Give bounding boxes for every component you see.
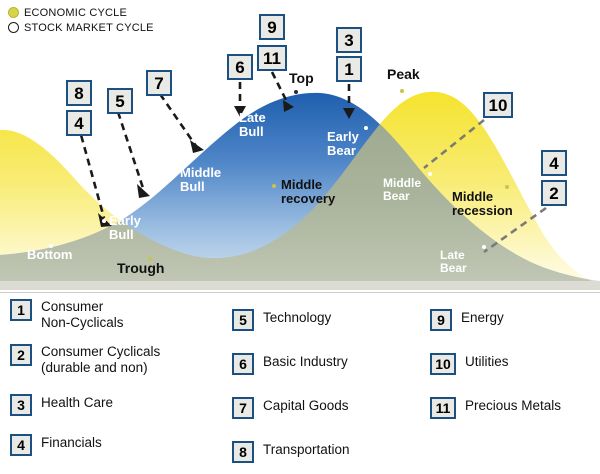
label-early-bull-line1: Early [109,214,141,228]
sector-item-8[interactable]: 8 Transportation [232,441,412,463]
sector-legend-column-1: 1 Consumer Non-Cyclicals 2 Consumer Cycl… [10,299,228,469]
sector-label-5: Technology [263,309,331,326]
sector-box-10: 10 [430,353,456,375]
label-early-bear-line2: Bear [327,144,359,158]
callout-box-8[interactable]: 8 [66,80,92,106]
callout-box-6[interactable]: 6 [227,54,253,80]
label-late-bear: Late Bear [440,249,467,274]
cycle-chart: 8 4 5 7 6 9 11 3 1 10 4 2 Bottom Trough … [0,0,600,290]
label-peak: Peak [387,67,420,82]
sector-label-4: Financials [41,434,102,451]
callout-box-5[interactable]: 5 [107,88,133,114]
sector-box-1: 1 [10,299,32,321]
callout-box-11[interactable]: 11 [257,45,287,71]
middle-bear-dot [428,172,432,176]
callout-box-7[interactable]: 7 [146,70,172,96]
early-bear-dot [364,126,368,130]
top-dot [294,90,298,94]
peak-dot [400,89,404,93]
callout-box-1[interactable]: 1 [336,56,362,82]
sector-label-10: Utilities [465,353,509,370]
sector-item-9[interactable]: 9 Energy [430,309,598,331]
sector-box-5: 5 [232,309,254,331]
sector-label-6: Basic Industry [263,353,348,370]
sector-item-10[interactable]: 10 Utilities [430,353,598,375]
label-middle-recession-line1: Middle [452,190,513,204]
sector-label-2-line2: (durable and non) [41,360,160,376]
label-early-bull: Early Bull [109,214,141,241]
sector-label-2: Consumer Cyclicals (durable and non) [41,344,160,376]
label-top: Top [289,71,314,86]
sector-item-4[interactable]: 4 Financials [10,434,228,456]
sector-box-8: 8 [232,441,254,463]
bottom-dot [49,244,53,248]
label-middle-recovery: Middle recovery [281,178,335,205]
trough-dot [148,257,152,261]
label-late-bull: Late Bull [239,111,266,138]
late-bull-dot [231,117,235,121]
label-middle-bear-line1: Middle [383,177,421,190]
label-late-bull-line2: Bull [239,125,266,139]
label-middle-bear-line2: Bear [383,190,421,203]
sector-label-11: Precious Metals [465,397,561,414]
label-middle-bull: Middle Bull [180,166,221,193]
baseline-band [0,281,600,290]
sector-legend-column-3: 9 Energy 10 Utilities 11 Precious Metals [430,309,598,432]
sector-box-11: 11 [430,397,456,419]
sector-box-2: 2 [10,344,32,366]
label-early-bear-line1: Early [327,130,359,144]
sector-box-7: 7 [232,397,254,419]
label-late-bull-line1: Late [239,111,266,125]
sector-item-5[interactable]: 5 Technology [232,309,412,331]
sector-item-3[interactable]: 3 Health Care [10,394,228,416]
callout-box-3[interactable]: 3 [336,27,362,53]
sector-box-9: 9 [430,309,452,331]
hollow-circle-icon [8,22,19,33]
sector-label-7: Capital Goods [263,397,349,414]
callout-box-4-right[interactable]: 4 [541,150,567,176]
legend-label-stock-market-cycle: STOCK MARKET CYCLE [24,22,154,34]
sector-label-1-line2: Non-Cyclicals [41,315,124,331]
early-bull-dot [102,219,106,223]
sector-item-1[interactable]: 1 Consumer Non-Cyclicals [10,299,228,331]
sector-box-3: 3 [10,394,32,416]
callout-box-9[interactable]: 9 [259,14,285,40]
late-bear-dot [482,245,486,249]
middle-bull-dot [172,172,176,176]
sector-box-6: 6 [232,353,254,375]
callout-box-10[interactable]: 10 [483,92,513,118]
label-early-bear: Early Bear [327,130,359,157]
sector-label-9: Energy [461,309,504,326]
sector-legend: 1 Consumer Non-Cyclicals 2 Consumer Cycl… [0,292,600,474]
label-middle-recession-line2: recession [452,204,513,218]
sector-label-3: Health Care [41,394,113,411]
sector-box-4: 4 [10,434,32,456]
sector-label-1-line1: Consumer [41,299,124,315]
label-middle-recovery-line1: Middle [281,178,335,192]
legend-label-economic-cycle: ECONOMIC CYCLE [24,7,127,19]
sector-label-1: Consumer Non-Cyclicals [41,299,124,331]
chart-curves [0,0,600,290]
label-bottom: Bottom [27,248,73,262]
filled-circle-icon [8,7,19,18]
sector-legend-column-2: 5 Technology 6 Basic Industry 7 Capital … [232,309,412,474]
label-middle-bull-line1: Middle [180,166,221,180]
sector-item-6[interactable]: 6 Basic Industry [232,353,412,375]
label-middle-recovery-line2: recovery [281,192,335,206]
sector-label-2-line1: Consumer Cyclicals [41,344,160,360]
label-early-bull-line2: Bull [109,228,141,242]
legend-item-economic-cycle: ECONOMIC CYCLE [8,5,154,20]
callout-box-4-left[interactable]: 4 [66,110,92,136]
middle-recession-dot [505,185,509,189]
legend-item-stock-market-cycle: STOCK MARKET CYCLE [8,20,154,35]
label-middle-bull-line2: Bull [180,180,221,194]
label-late-bear-line2: Bear [440,262,467,275]
label-middle-recession: Middle recession [452,190,513,217]
middle-recovery-dot [272,184,276,188]
cycle-legend: ECONOMIC CYCLE STOCK MARKET CYCLE [8,5,154,35]
sector-label-8: Transportation [263,441,350,458]
sector-item-11[interactable]: 11 Precious Metals [430,397,598,419]
callout-box-2[interactable]: 2 [541,180,567,206]
label-middle-bear: Middle Bear [383,177,421,202]
sector-item-7[interactable]: 7 Capital Goods [232,397,412,419]
label-trough: Trough [117,261,164,276]
sector-item-2[interactable]: 2 Consumer Cyclicals (durable and non) [10,344,228,376]
label-late-bear-line1: Late [440,249,467,262]
chart-page: ECONOMIC CYCLE STOCK MARKET CYCLE [0,0,600,474]
